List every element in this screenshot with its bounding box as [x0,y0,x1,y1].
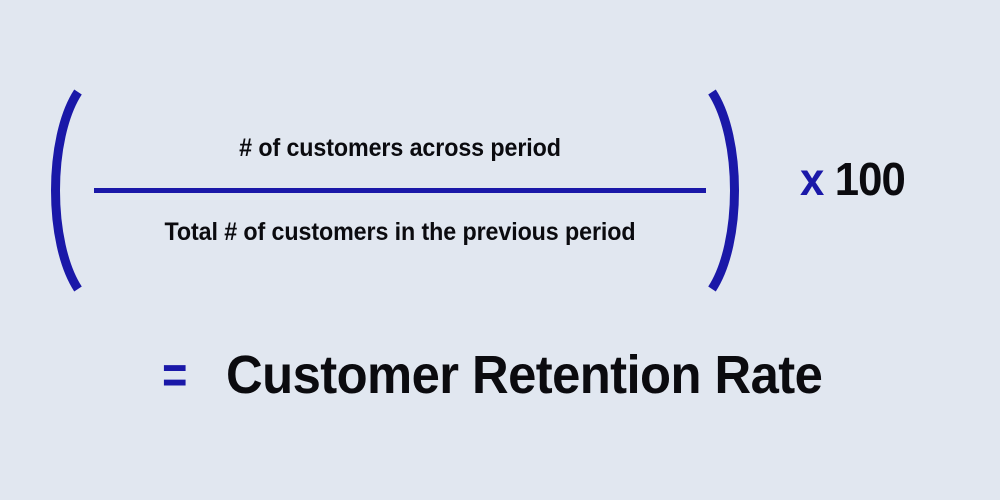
customer-retention-rate-formula: # of customers across period Total # of … [0,0,1000,500]
multiplier-expression: x 100 [800,156,905,202]
fraction: # of customers across period Total # of … [90,78,710,303]
result-label: Customer Retention Rate [226,348,822,402]
fraction-bar [94,188,706,193]
multiplier-value: 100 [835,156,905,202]
close-parenthesis [700,78,760,303]
fraction-denominator: Total # of customers in the previous per… [112,219,689,247]
result-statement: = Customer Retention Rate [0,348,1000,402]
open-parenthesis [30,78,90,303]
multiplication-symbol: x [800,156,824,202]
fraction-numerator: # of customers across period [112,135,689,163]
equals-symbol: = [162,348,187,402]
